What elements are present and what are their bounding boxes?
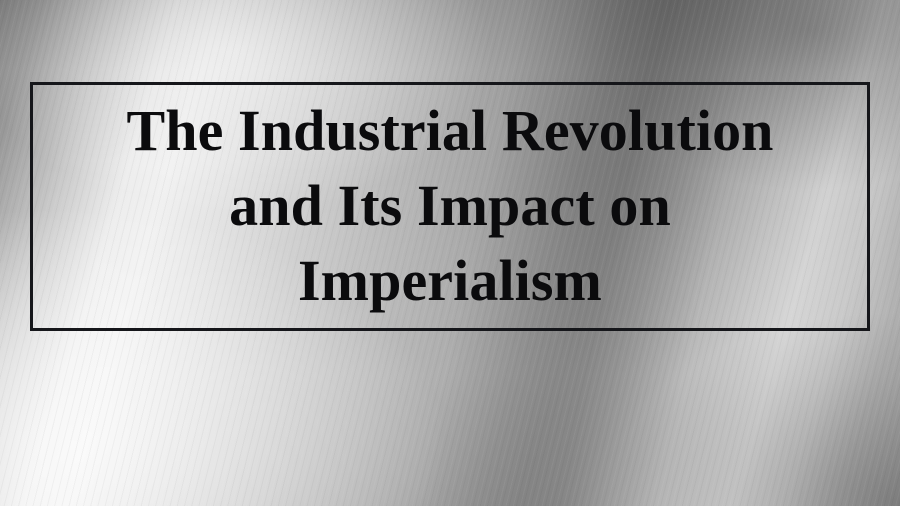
slide-title-line-1: The Industrial Revolution: [47, 93, 853, 168]
slide-title-line-2: and Its Impact on: [47, 168, 853, 243]
title-frame-border: The Industrial Revolution and Its Impact…: [30, 82, 870, 331]
slide-title: The Industrial Revolution and Its Impact…: [33, 93, 867, 318]
slide-title-line-3: Imperialism: [47, 243, 853, 318]
title-slide: The Industrial Revolution and Its Impact…: [0, 0, 900, 506]
